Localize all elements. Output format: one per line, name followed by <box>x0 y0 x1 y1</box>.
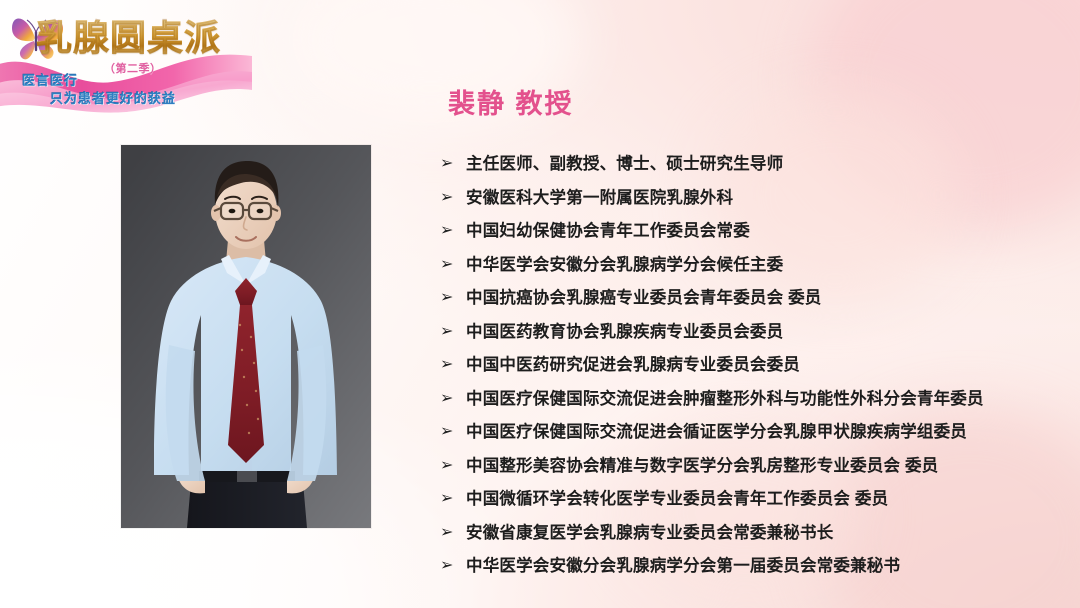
bullet-arrow-icon: ➢ <box>440 316 466 349</box>
portrait-illustration <box>121 145 371 528</box>
credentials-list: ➢主任医师、副教授、博士、硕士研究生导师➢安徽医科大学第一附属医院乳腺外科➢中国… <box>440 148 1072 584</box>
credential-item-text: 中华医学会安徽分会乳腺病学分会候任主委 <box>466 249 1072 282</box>
speaker-portrait-photo <box>121 145 371 528</box>
logo-title-text: 乳腺圆桌派 <box>36 20 221 56</box>
credential-item-text: 主任医师、副教授、博士、硕士研究生导师 <box>466 148 1072 181</box>
bullet-arrow-icon: ➢ <box>440 349 466 382</box>
credential-item: ➢中国中医药研究促进会乳腺病专业委员会委员 <box>440 349 1072 382</box>
credential-item-text: 中国中医药研究促进会乳腺病专业委员会委员 <box>466 349 1072 382</box>
logo-season-text: （第二季） <box>104 60 162 76</box>
credential-item-text: 中国医药教育协会乳腺疾病专业委员会委员 <box>466 316 1072 349</box>
credential-item-text: 中国微循环学会转化医学专业委员会青年工作委员会 委员 <box>466 483 1072 516</box>
bullet-arrow-icon: ➢ <box>440 517 466 550</box>
bullet-arrow-icon: ➢ <box>440 450 466 483</box>
bullet-arrow-icon: ➢ <box>440 249 466 282</box>
bullet-arrow-icon: ➢ <box>440 383 466 416</box>
logo-subtitle-line1: 医言医行 <box>22 70 78 89</box>
credential-item-text: 中国妇幼保健协会青年工作委员会常委 <box>466 215 1072 248</box>
credential-item: ➢中国医疗保健国际交流促进会肿瘤整形外科与功能性外科分会青年委员 <box>440 383 1072 416</box>
credential-item-text: 中国抗癌协会乳腺癌专业委员会青年委员会 委员 <box>466 282 1072 315</box>
credential-item: ➢主任医师、副教授、博士、硕士研究生导师 <box>440 148 1072 181</box>
bullet-arrow-icon: ➢ <box>440 148 466 181</box>
credential-item-text: 中国整形美容协会精准与数字医学分会乳房整形专业委员会 委员 <box>466 450 1072 483</box>
credential-item: ➢中国整形美容协会精准与数字医学分会乳房整形专业委员会 委员 <box>440 450 1072 483</box>
credential-item: ➢中国微循环学会转化医学专业委员会青年工作委员会 委员 <box>440 483 1072 516</box>
program-logo: 乳腺圆桌派 （第二季） 医言医行 只为患者更好的获益 <box>0 0 246 112</box>
credential-item: ➢安徽省康复医学会乳腺病专业委员会常委兼秘书长 <box>440 517 1072 550</box>
bullet-arrow-icon: ➢ <box>440 550 466 583</box>
bullet-arrow-icon: ➢ <box>440 282 466 315</box>
bullet-arrow-icon: ➢ <box>440 483 466 516</box>
credential-item: ➢中国妇幼保健协会青年工作委员会常委 <box>440 215 1072 248</box>
bullet-arrow-icon: ➢ <box>440 215 466 248</box>
credential-item: ➢中国医疗保健国际交流促进会循证医学分会乳腺甲状腺疾病学组委员 <box>440 416 1072 449</box>
credential-item-text: 安徽医科大学第一附属医院乳腺外科 <box>466 182 1072 215</box>
credential-item: ➢中华医学会安徽分会乳腺病学分会第一届委员会常委兼秘书 <box>440 550 1072 583</box>
presentation-slide: 乳腺圆桌派 （第二季） 医言医行 只为患者更好的获益 <box>0 0 1080 608</box>
credential-item: ➢中华医学会安徽分会乳腺病学分会候任主委 <box>440 249 1072 282</box>
bullet-arrow-icon: ➢ <box>440 416 466 449</box>
credential-item: ➢中国医药教育协会乳腺疾病专业委员会委员 <box>440 316 1072 349</box>
credential-item-text: 安徽省康复医学会乳腺病专业委员会常委兼秘书长 <box>466 517 1072 550</box>
logo-subtitle-line2: 只为患者更好的获益 <box>50 88 176 107</box>
credential-item-text: 中国医疗保健国际交流促进会肿瘤整形外科与功能性外科分会青年委员 <box>466 383 1072 416</box>
speaker-name-title: 裴静 教授 <box>448 82 574 121</box>
bullet-arrow-icon: ➢ <box>440 182 466 215</box>
credential-item: ➢安徽医科大学第一附属医院乳腺外科 <box>440 182 1072 215</box>
credential-item-text: 中国医疗保健国际交流促进会循证医学分会乳腺甲状腺疾病学组委员 <box>466 416 1072 449</box>
credential-item-text: 中华医学会安徽分会乳腺病学分会第一届委员会常委兼秘书 <box>466 550 1072 583</box>
credential-item: ➢中国抗癌协会乳腺癌专业委员会青年委员会 委员 <box>440 282 1072 315</box>
